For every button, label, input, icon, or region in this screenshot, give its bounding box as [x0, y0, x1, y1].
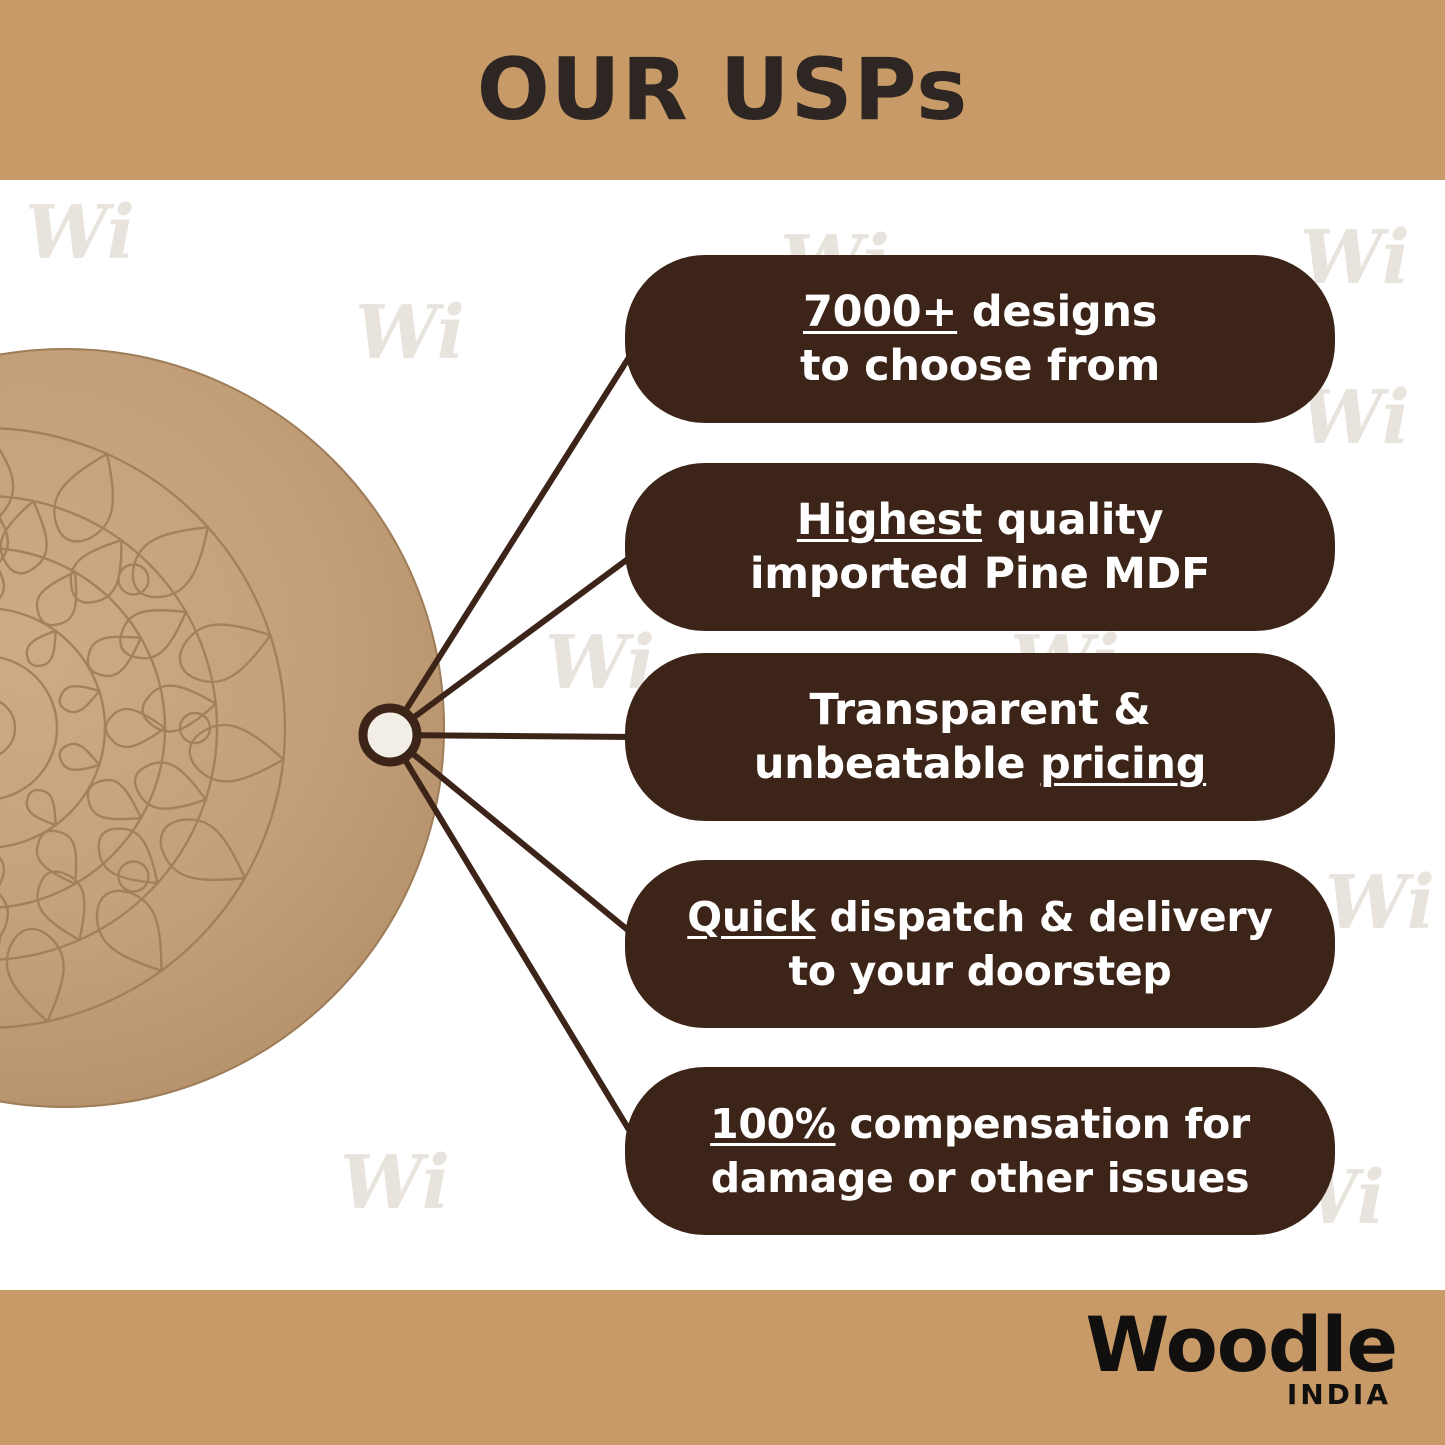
usp-card-compensation-text: 100% compensation for damage or other is… [710, 1097, 1250, 1205]
usp-compensation-line1-rest: compensation for [836, 1100, 1250, 1148]
usp-quality-line1-rest: quality [982, 495, 1163, 545]
usp-dispatch-line1-rest: dispatch & delivery [815, 893, 1272, 941]
usp-compensation-highlight: 100% [710, 1100, 835, 1148]
usp-card-quality[interactable]: Highest quality imported Pine MDF [625, 463, 1335, 631]
usp-dispatch-highlight: Quick [687, 893, 815, 941]
usp-card-designs-text: 7000+ designs to choose from [800, 285, 1160, 393]
usp-card-quality-text: Highest quality imported Pine MDF [750, 493, 1210, 601]
usp-card-pricing[interactable]: Transparent & unbeatable pricing [625, 653, 1335, 821]
usp-dispatch-line2: to your doorstep [789, 947, 1172, 995]
usp-compensation-line2: damage or other issues [711, 1154, 1249, 1202]
usp-pricing-line1: Transparent & [810, 685, 1151, 735]
usp-quality-line2: imported Pine MDF [750, 549, 1210, 599]
brand-logo: Woodle INDIA [1085, 1306, 1397, 1410]
usp-card-compensation[interactable]: 100% compensation for damage or other is… [625, 1067, 1335, 1235]
brand-name: Woodle [1085, 1306, 1397, 1384]
page-title: OUR USPs [0, 0, 1445, 180]
usp-card-pricing-text: Transparent & unbeatable pricing [754, 683, 1206, 791]
usp-pricing-line2-prefix: unbeatable [754, 739, 1040, 789]
usp-quality-highlight: Highest [797, 495, 982, 545]
usp-card-dispatch-text: Quick dispatch & delivery to your doorst… [687, 890, 1272, 998]
usp-designs-line2: to choose from [800, 341, 1160, 391]
usp-infographic-page: OUR USPs Wi Wi Wi Wi Wi Wi Wi Wi Wi Wi [0, 0, 1445, 1445]
usp-card-designs[interactable]: 7000+ designs to choose from [625, 255, 1335, 423]
hub-node [363, 708, 417, 762]
usp-pricing-highlight: pricing [1040, 739, 1206, 789]
usp-designs-line1-rest: designs [957, 287, 1157, 337]
diagram-stage: Wi Wi Wi Wi Wi Wi Wi Wi Wi Wi [0, 180, 1445, 1290]
usp-designs-highlight: 7000+ [803, 287, 957, 337]
usp-card-dispatch[interactable]: Quick dispatch & delivery to your doorst… [625, 860, 1335, 1028]
